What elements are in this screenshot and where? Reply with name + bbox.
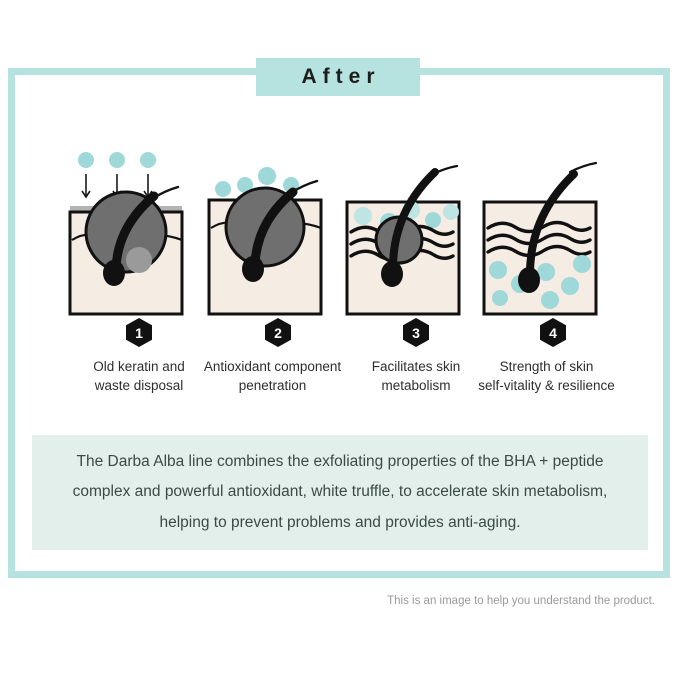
- skin-cross-section-with-metabolism-waves-icon: [341, 140, 491, 320]
- step-4-caption: Strength of skin self-vitality & resilie…: [459, 357, 635, 395]
- steps-row: 1 Old keratin and waste disposal: [8, 140, 670, 415]
- step-panel-4: 4 Strength of skin self-vitality & resil…: [478, 140, 628, 415]
- after-badge-label: After: [295, 65, 380, 89]
- skin-cross-section-with-keratin-buildup-icon: [64, 140, 214, 320]
- after-badge: After: [256, 58, 420, 96]
- step-2-caption: Antioxidant component penetration: [187, 357, 359, 395]
- step-panel-2: 2 Antioxidant component penetration: [203, 140, 353, 415]
- step-2-label-group: 2 Antioxidant component penetration: [203, 318, 353, 395]
- product-infographic-page: After: [0, 0, 679, 679]
- skin-cross-section-healthy-resilient-icon: [478, 140, 628, 320]
- step-4-label-group: 4 Strength of skin self-vitality & resil…: [478, 318, 628, 395]
- step-2-badge: 2: [265, 318, 291, 347]
- step-3-badge: 3: [403, 318, 429, 347]
- description-text: The Darba Alba line combines the exfolia…: [55, 447, 625, 538]
- skin-cross-section-with-antioxidant-dots-icon: [203, 140, 353, 320]
- step-4-badge: 4: [540, 318, 566, 347]
- description-box: The Darba Alba line combines the exfolia…: [32, 435, 648, 550]
- footer-note: This is an image to help you understand …: [0, 595, 655, 607]
- step-1-badge: 1: [126, 318, 152, 347]
